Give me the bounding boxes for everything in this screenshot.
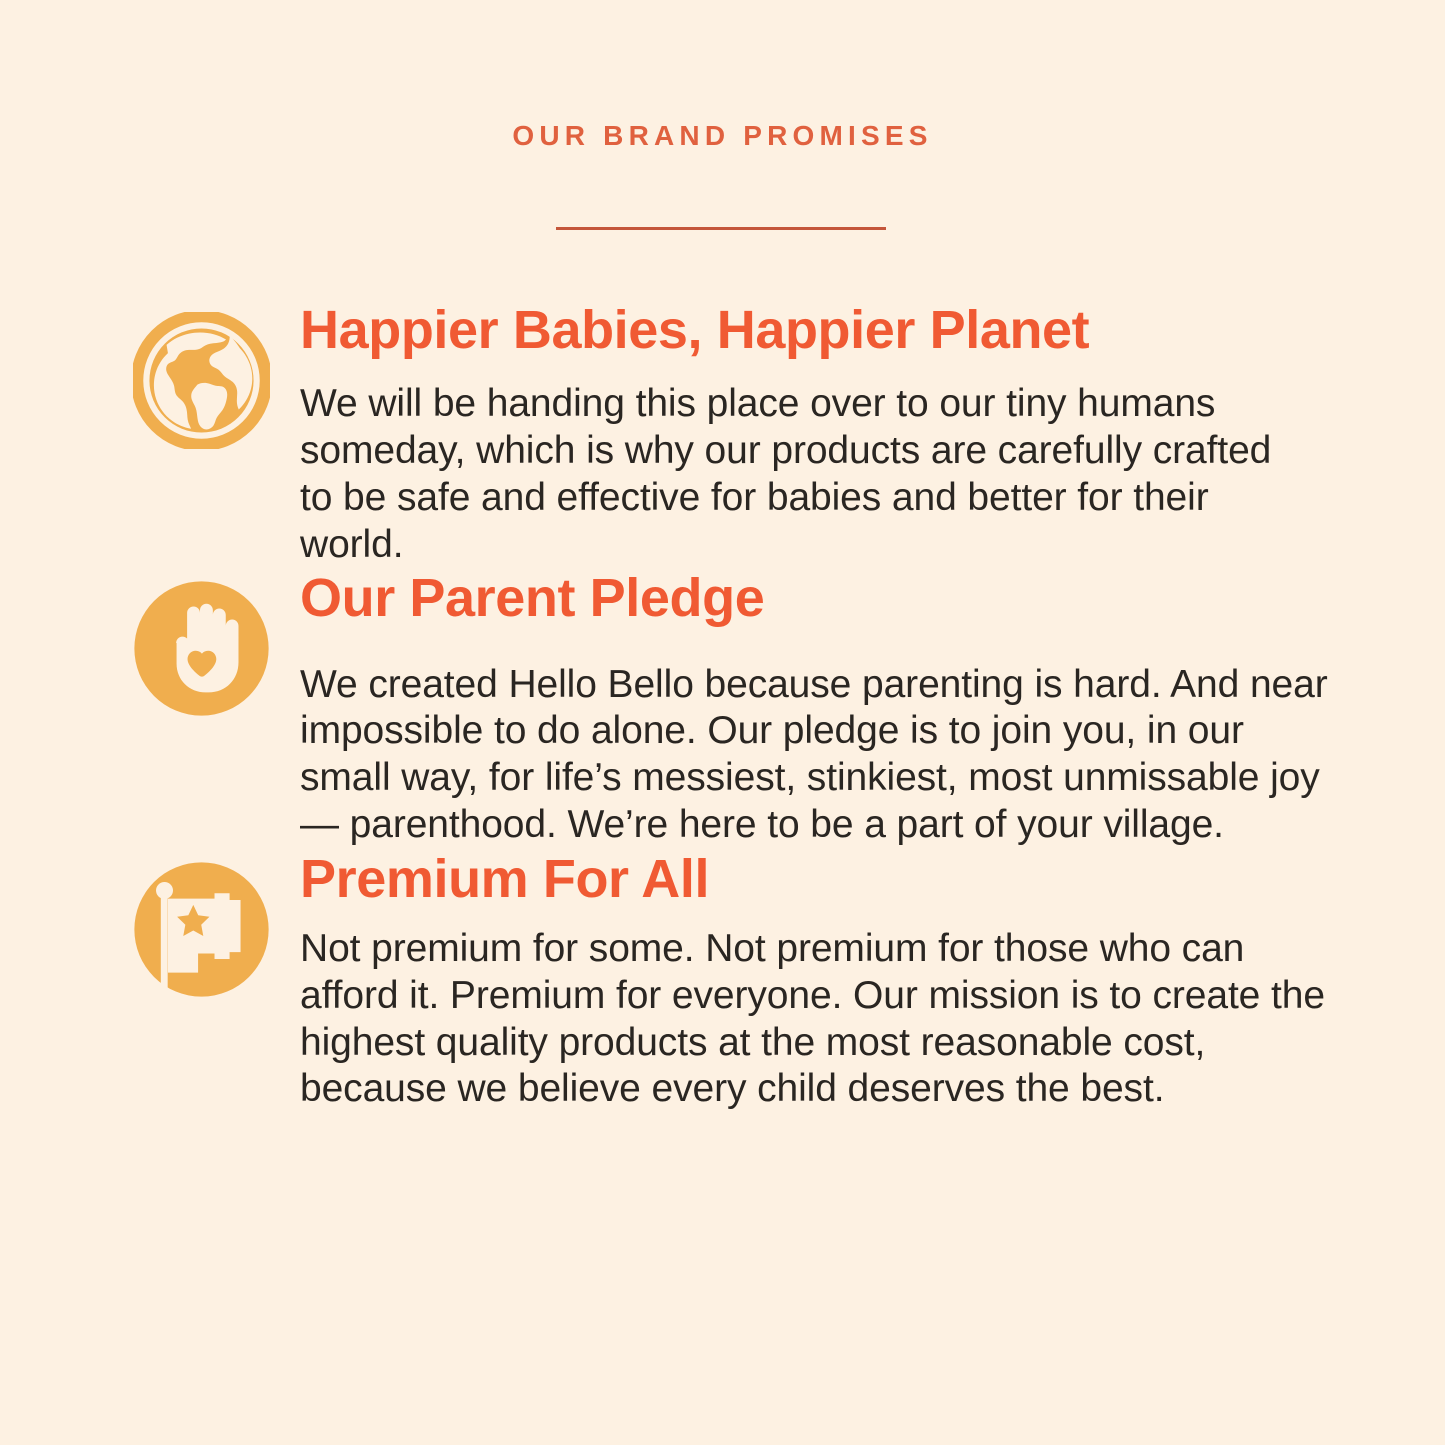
section-eyebrow-wrap: OUR BRAND PROMISES <box>0 122 1445 150</box>
promise-item: Our Parent Pledge We created Hello Bello… <box>0 568 1445 848</box>
globe-icon <box>133 312 270 449</box>
promise-body: Happier Babies, Happier Planet We will b… <box>300 300 1290 568</box>
hand-heart-icon <box>133 580 270 717</box>
promise-item: Happier Babies, Happier Planet We will b… <box>0 300 1445 568</box>
promise-body: Our Parent Pledge We created Hello Bello… <box>300 568 1345 848</box>
promise-title: Happier Babies, Happier Planet <box>300 302 1290 359</box>
brand-promises-page: OUR BRAND PROMISES Happier Babies, Happi… <box>0 0 1445 1445</box>
flag-star-icon <box>133 861 270 998</box>
promise-text: Not premium for some. Not premium for th… <box>300 926 1345 1113</box>
section-divider <box>556 227 886 230</box>
section-eyebrow: OUR BRAND PROMISES <box>512 122 932 150</box>
promise-title: Our Parent Pledge <box>300 570 1345 627</box>
promise-item: Premium For All Not premium for some. No… <box>0 849 1445 1113</box>
promise-text: We created Hello Bello because parenting… <box>300 662 1345 849</box>
promise-text: We will be handing this place over to ou… <box>300 381 1290 568</box>
promise-body: Premium For All Not premium for some. No… <box>300 849 1345 1113</box>
promise-title: Premium For All <box>300 851 1345 908</box>
promises-list: Happier Babies, Happier Planet We will b… <box>0 300 1445 1113</box>
